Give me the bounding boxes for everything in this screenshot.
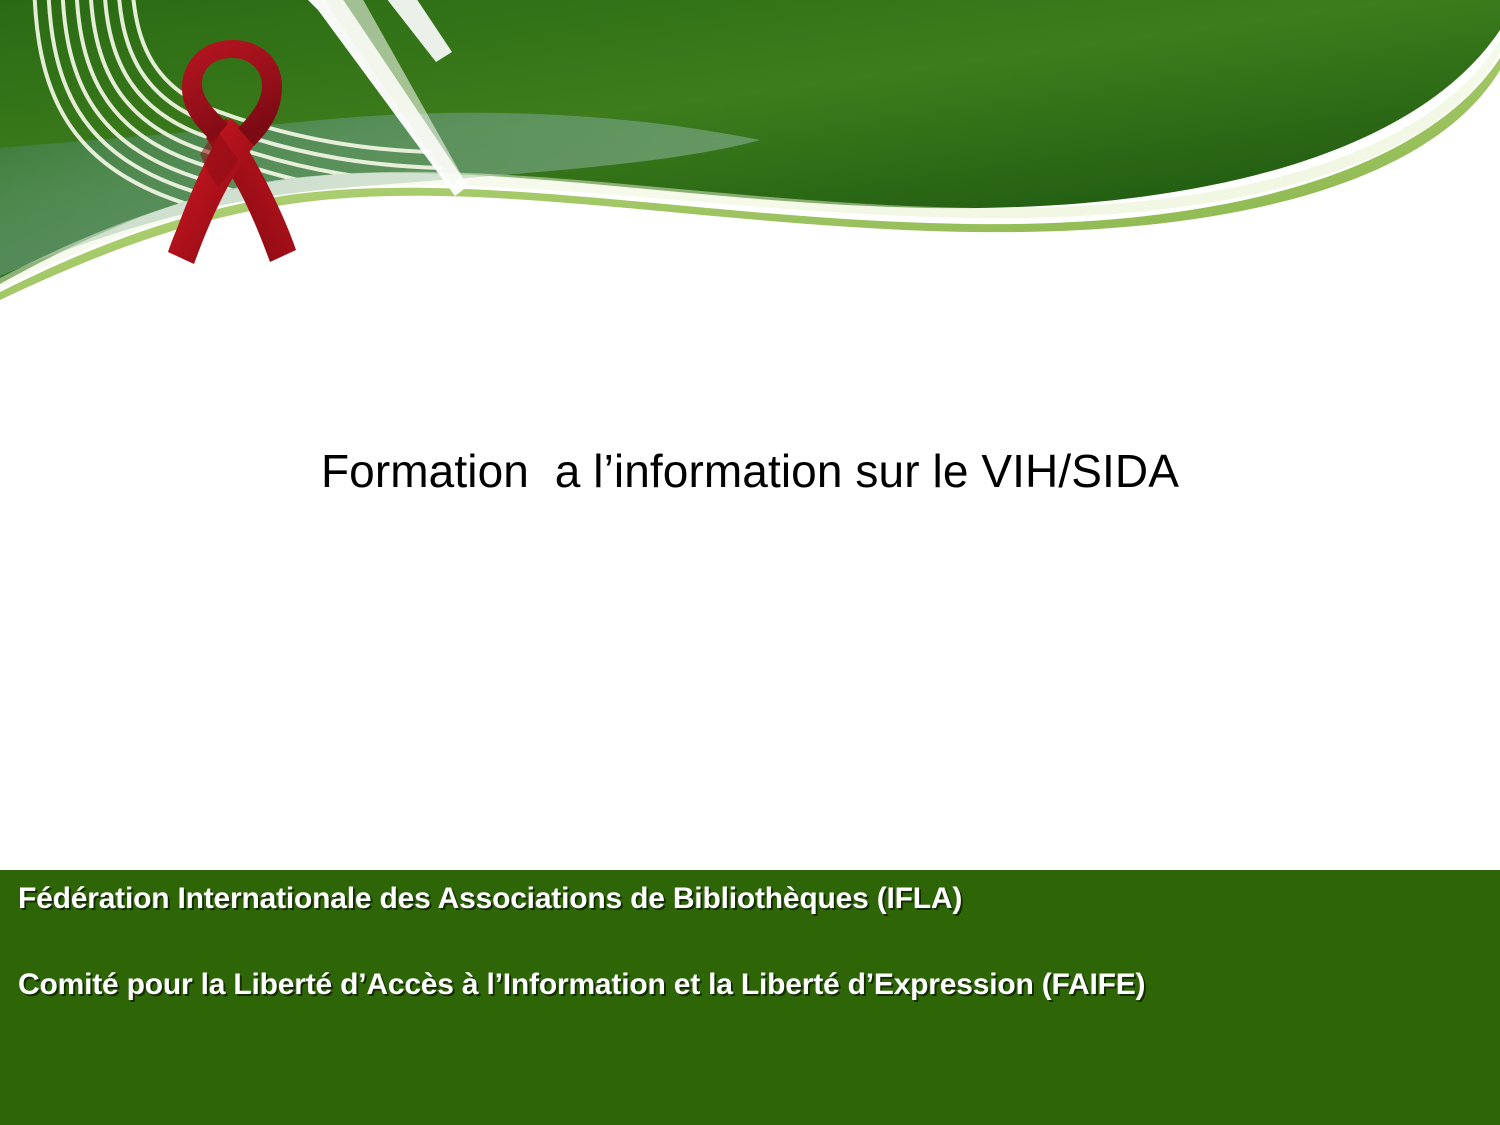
aids-awareness-ribbon xyxy=(150,26,310,276)
page-title: Formation a l’information sur le VIH/SID… xyxy=(321,445,1179,498)
committee-name: Comité pour la Liberté d’Accès à l’Infor… xyxy=(18,968,1145,1002)
footer-banner: Fédération Internationale des Associatio… xyxy=(0,870,1500,1125)
slide-title-block: Formation a l’information sur le VIH/SID… xyxy=(0,445,1500,498)
organization-name: Fédération Internationale des Associatio… xyxy=(18,882,962,916)
presentation-slide: Formation a l’information sur le VIH/SID… xyxy=(0,0,1500,1125)
